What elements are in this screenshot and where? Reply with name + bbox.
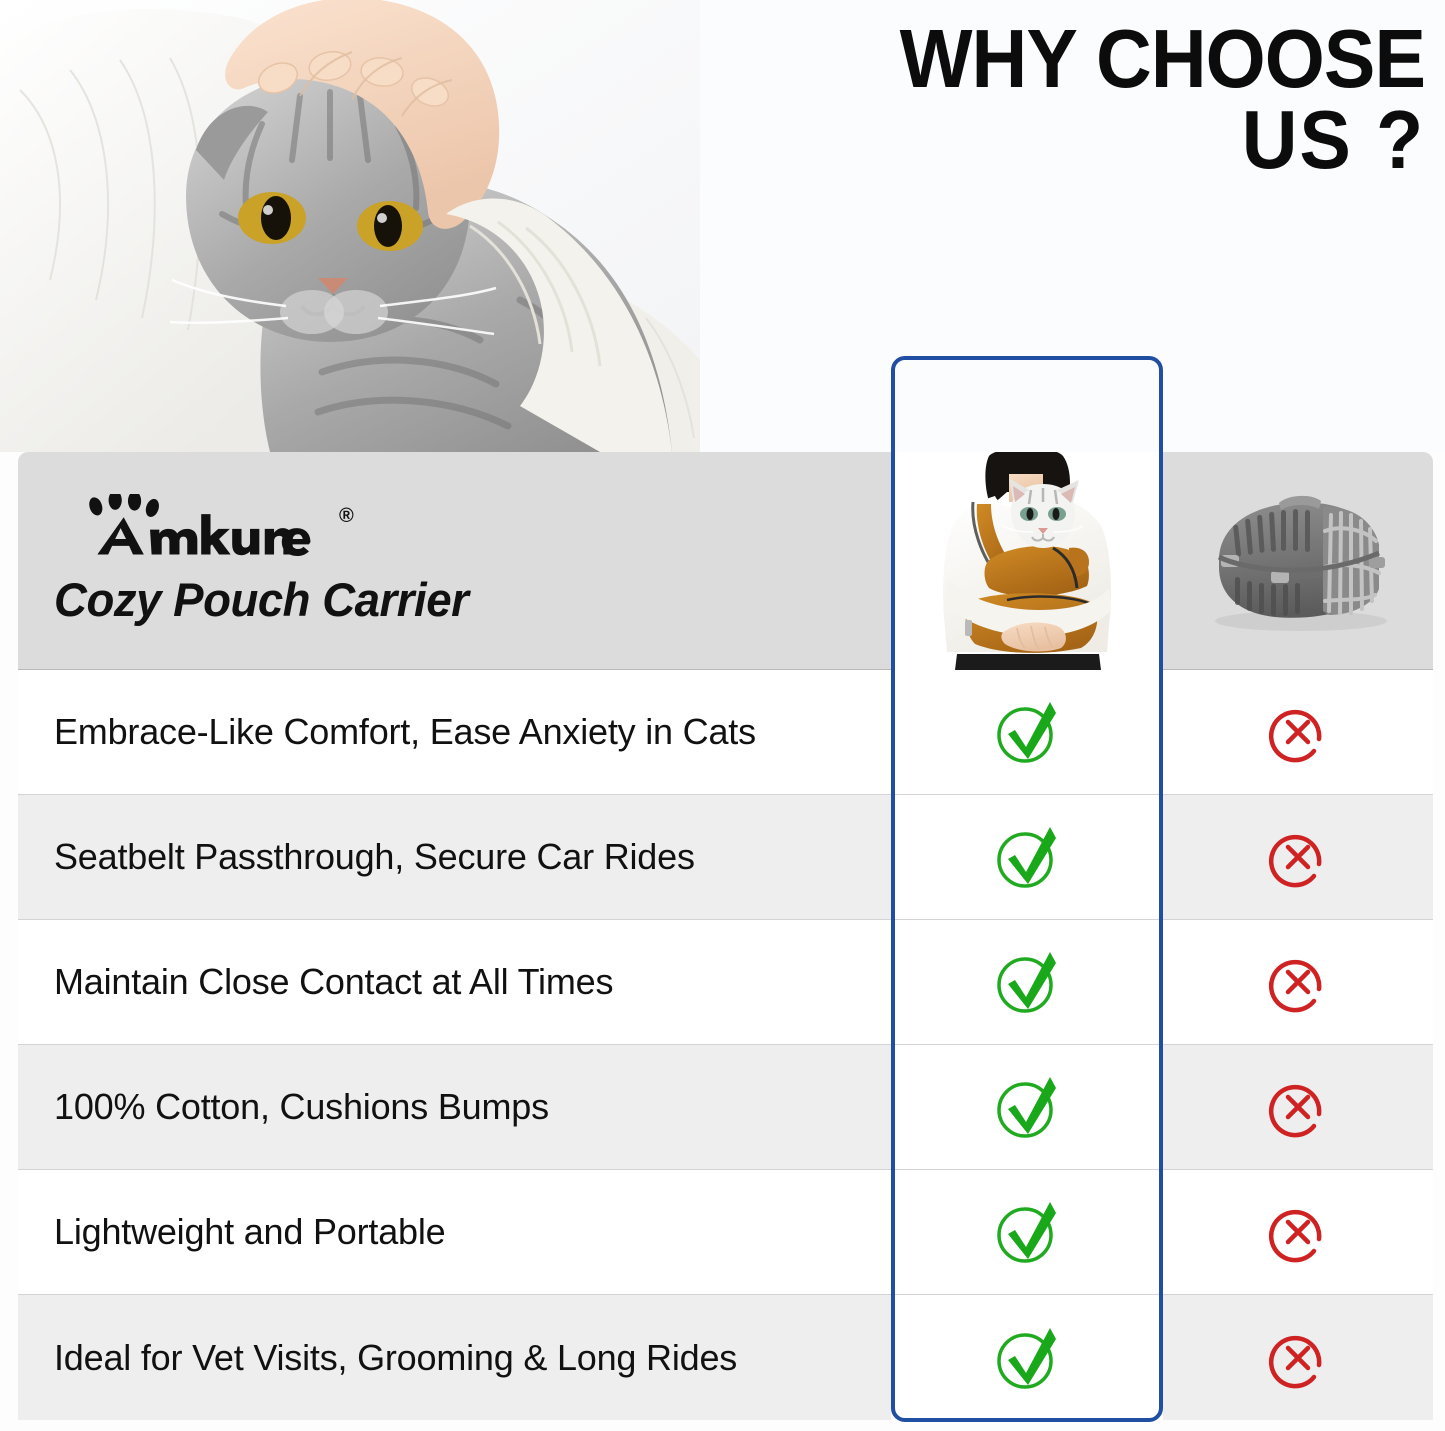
page-title-line1: WHY CHOOSE bbox=[900, 12, 1425, 105]
theirs-mark-cell bbox=[1163, 1201, 1433, 1263]
green-check-circle-icon bbox=[992, 1323, 1062, 1393]
ours-mark-cell bbox=[891, 920, 1163, 1044]
competitor-product-photo bbox=[1163, 452, 1433, 670]
table-row: 100% Cotton, Cushions Bumps bbox=[18, 1045, 1433, 1170]
comparison-infographic: WHY CHOOSE US ? bbox=[0, 0, 1445, 1431]
feature-rows: Embrace-Like Comfort, Ease Anxiety in Ca… bbox=[18, 670, 1433, 1420]
brand-block: ® Cozy Pouch Carrier bbox=[54, 492, 854, 627]
brand-logo: ® bbox=[54, 492, 854, 556]
hero-section: WHY CHOOSE US ? bbox=[0, 0, 1445, 452]
green-check-circle-icon bbox=[992, 1197, 1062, 1267]
feature-label: Ideal for Vet Visits, Grooming & Long Ri… bbox=[18, 1337, 891, 1379]
ours-mark-cell bbox=[891, 1295, 1163, 1420]
paw-print-icon bbox=[54, 494, 336, 556]
table-row: Maintain Close Contact at All Times bbox=[18, 920, 1433, 1045]
feature-label: Embrace-Like Comfort, Ease Anxiety in Ca… bbox=[18, 711, 891, 753]
theirs-mark-cell bbox=[1163, 1076, 1433, 1138]
registered-trademark-mark: ® bbox=[339, 505, 354, 528]
feature-label: Maintain Close Contact at All Times bbox=[18, 961, 891, 1003]
green-check-circle-icon bbox=[992, 1072, 1062, 1142]
red-x-circle-icon bbox=[1267, 951, 1329, 1013]
red-x-circle-icon bbox=[1267, 1076, 1329, 1138]
red-x-circle-icon bbox=[1267, 701, 1329, 763]
ours-mark-cell bbox=[891, 795, 1163, 919]
green-check-circle-icon bbox=[992, 947, 1062, 1017]
comparison-table: ® Cozy Pouch Carrier bbox=[18, 452, 1433, 1424]
hero-cat-photo bbox=[0, 0, 700, 452]
green-check-circle-icon bbox=[992, 697, 1062, 767]
page-title: WHY CHOOSE US ? bbox=[718, 18, 1425, 181]
page-title-line2: US ? bbox=[718, 99, 1425, 180]
feature-label: 100% Cotton, Cushions Bumps bbox=[18, 1086, 891, 1128]
theirs-mark-cell bbox=[1163, 1327, 1433, 1389]
table-header-row: ® Cozy Pouch Carrier bbox=[18, 452, 1433, 670]
ours-mark-cell bbox=[891, 670, 1163, 794]
red-x-circle-icon bbox=[1267, 826, 1329, 888]
table-row: Ideal for Vet Visits, Grooming & Long Ri… bbox=[18, 1295, 1433, 1420]
green-check-circle-icon bbox=[992, 822, 1062, 892]
red-x-circle-icon bbox=[1267, 1327, 1329, 1389]
theirs-mark-cell bbox=[1163, 951, 1433, 1013]
product-line-title: Cozy Pouch Carrier bbox=[54, 572, 830, 627]
ours-mark-cell bbox=[891, 1170, 1163, 1294]
table-row: Lightweight and Portable bbox=[18, 1170, 1433, 1295]
theirs-mark-cell bbox=[1163, 701, 1433, 763]
table-row: Embrace-Like Comfort, Ease Anxiety in Ca… bbox=[18, 670, 1433, 795]
theirs-mark-cell bbox=[1163, 826, 1433, 888]
ours-product-photo bbox=[891, 452, 1163, 670]
red-x-circle-icon bbox=[1267, 1201, 1329, 1263]
table-row: Seatbelt Passthrough, Secure Car Rides bbox=[18, 795, 1433, 920]
feature-label: Lightweight and Portable bbox=[18, 1211, 891, 1253]
ours-mark-cell bbox=[891, 1045, 1163, 1169]
feature-label: Seatbelt Passthrough, Secure Car Rides bbox=[18, 836, 891, 878]
